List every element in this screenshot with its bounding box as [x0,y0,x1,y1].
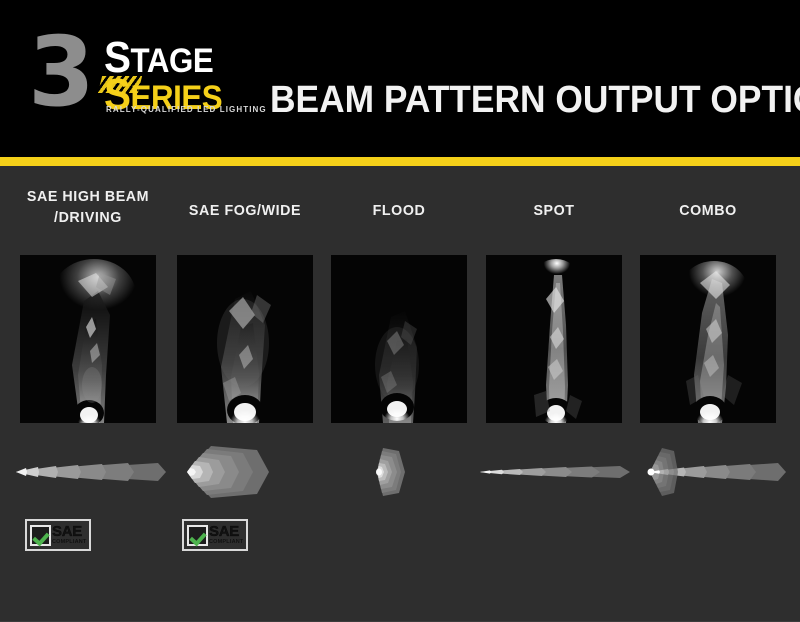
badge-text: SAE COMPLIANT [52,524,87,546]
stage-series-logo: 3 STAGE SERIES RALLY-QUALIFIED LED LIGHT… [28,28,243,128]
badge-subtitle: COMPLIANT [209,540,244,546]
badge-title: SAE [209,524,244,539]
column-label-line1: SAE FOG/WIDE [189,202,301,219]
header-bar: 3 STAGE SERIES RALLY-QUALIFIED LED LIGHT… [0,0,800,157]
check-icon [187,525,208,546]
beam-photo-fog-wide [177,255,313,423]
column-label-line1: SPOT [533,202,574,219]
column-label: SPOT [480,200,628,221]
page-title: BEAM PATTERN OUTPUT OPTIONS [270,79,800,121]
column-label-line1: SAE HIGH BEAM [27,188,149,205]
column-label-line1: COMBO [679,202,736,219]
beam-photo-flood [331,255,467,423]
beam-diagram-driving [8,441,168,503]
column-label: SAE HIGH BEAM /DRIVING [14,186,162,228]
check-icon [30,525,51,546]
badge-subtitle: COMPLIANT [52,540,87,546]
badge-title: SAE [52,524,87,539]
column-label-line1: FLOOD [373,202,426,219]
column-label: FLOOD [325,200,473,221]
logo-numeral-3: 3 [28,24,91,120]
logo-stage-rest: TAGE [131,42,214,80]
beam-columns-grid: SAE HIGH BEAM /DRIVING [0,166,800,622]
accent-divider [0,157,800,166]
beam-diagram-combo [628,441,788,503]
column-label: COMBO [634,200,782,221]
sae-compliant-badge: SAE COMPLIANT [25,519,91,551]
sae-compliant-badge: SAE COMPLIANT [182,519,248,551]
beam-diagram-fog-wide [165,441,325,503]
column-label: SAE FOG/WIDE [171,200,319,221]
badge-text: SAE COMPLIANT [209,524,244,546]
column-label-line2: /DRIVING [54,209,122,226]
beam-photo-combo [640,255,776,423]
beam-diagram-spot [474,441,634,503]
beam-photo-driving [20,255,156,423]
beam-diagram-flood [319,441,479,503]
logo-tagline: RALLY-QUALIFIED LED LIGHTING [106,105,267,114]
beam-pattern-chart: 3 STAGE SERIES RALLY-QUALIFIED LED LIGHT… [0,0,800,622]
beam-photo-spot [486,255,622,423]
